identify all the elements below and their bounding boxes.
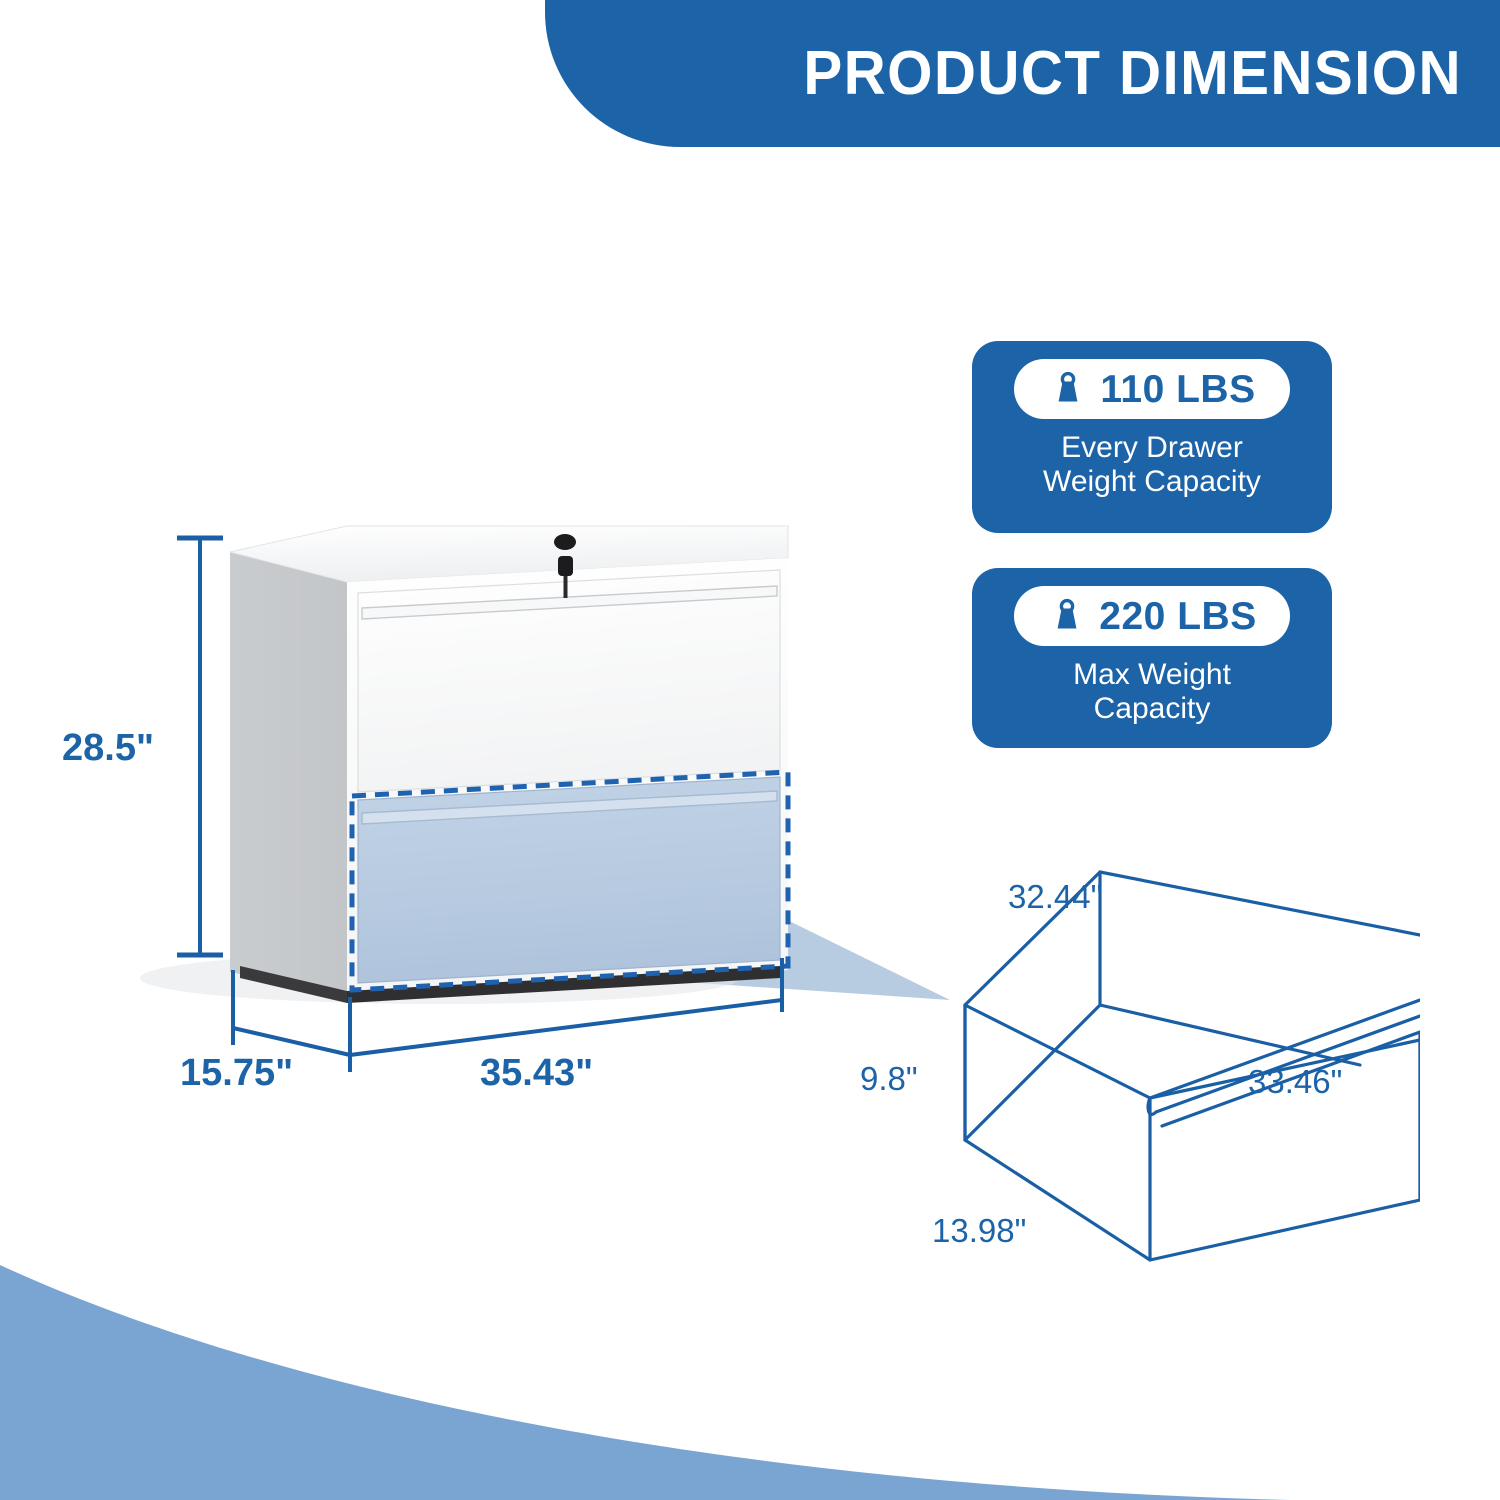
product-dimension-infographic: PRODUCT DIMENSION 110 LBS Every Drawer W…	[0, 0, 1500, 1500]
dimension-width-label: 35.43"	[480, 1052, 593, 1094]
key-shaft-icon	[564, 576, 568, 598]
weight-icon	[1047, 596, 1087, 636]
badge-caption: Every Drawer Weight Capacity	[994, 431, 1310, 498]
badge-pill: 110 LBS	[1014, 359, 1290, 419]
dimension-depth-label: 15.75"	[180, 1052, 293, 1094]
drawer-diagram: 32.44" 9.8" 13.98" 33.46"	[860, 840, 1420, 1290]
dimension-height: 28.5"	[62, 538, 223, 955]
drawer-dimension-front-width-label: 33.46"	[1248, 1063, 1342, 1100]
cabinet-side-panel	[230, 552, 347, 997]
key-head-icon	[558, 556, 573, 576]
dimension-height-label: 28.5"	[62, 727, 154, 769]
cabinet-illustration: 28.5" 15.75" 35.43"	[40, 500, 860, 1100]
header-banner: PRODUCT DIMENSION	[545, 0, 1500, 147]
badge-card-drawer-capacity: 110 LBS Every Drawer Weight Capacity	[972, 341, 1332, 533]
drawer-dimension-inner-width-label: 32.44"	[1008, 878, 1102, 915]
weight-icon	[1048, 369, 1088, 409]
drawer-wireframe	[965, 872, 1420, 1260]
badge-value: 220 LBS	[1099, 597, 1256, 636]
drawer-dimension-height-label: 9.8"	[860, 1060, 918, 1097]
badge-card-max-capacity: 220 LBS Max Weight Capacity	[972, 568, 1332, 748]
badge-value: 110 LBS	[1100, 370, 1255, 409]
drawer-dimension-depth-label: 13.98"	[932, 1212, 1026, 1249]
page-title: PRODUCT DIMENSION	[600, 38, 1462, 109]
lock-cylinder-icon[interactable]	[554, 534, 576, 550]
badge-pill: 220 LBS	[1014, 586, 1290, 646]
badge-caption: Max Weight Capacity	[994, 658, 1310, 725]
